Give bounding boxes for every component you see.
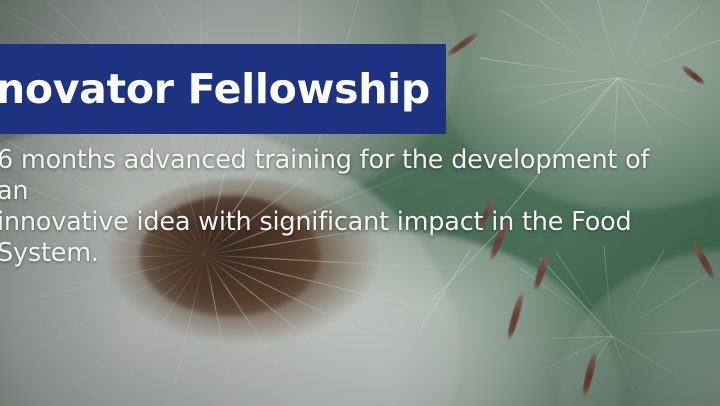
hero-subtitle: 6 months advanced training for the devel… [0,145,653,269]
hero-subtitle-line-3: System. [0,238,653,269]
hero-subtitle-line-2: innovative idea with significant impact … [0,207,653,238]
hero-content: novator Fellowship 6 months advanced tra… [0,0,720,406]
hero-subtitle-line-1: 6 months advanced training for the devel… [0,145,653,207]
hero-title-bar: novator Fellowship [0,44,446,134]
hero-banner: novator Fellowship 6 months advanced tra… [0,0,720,406]
page-title: novator Fellowship [0,69,430,110]
